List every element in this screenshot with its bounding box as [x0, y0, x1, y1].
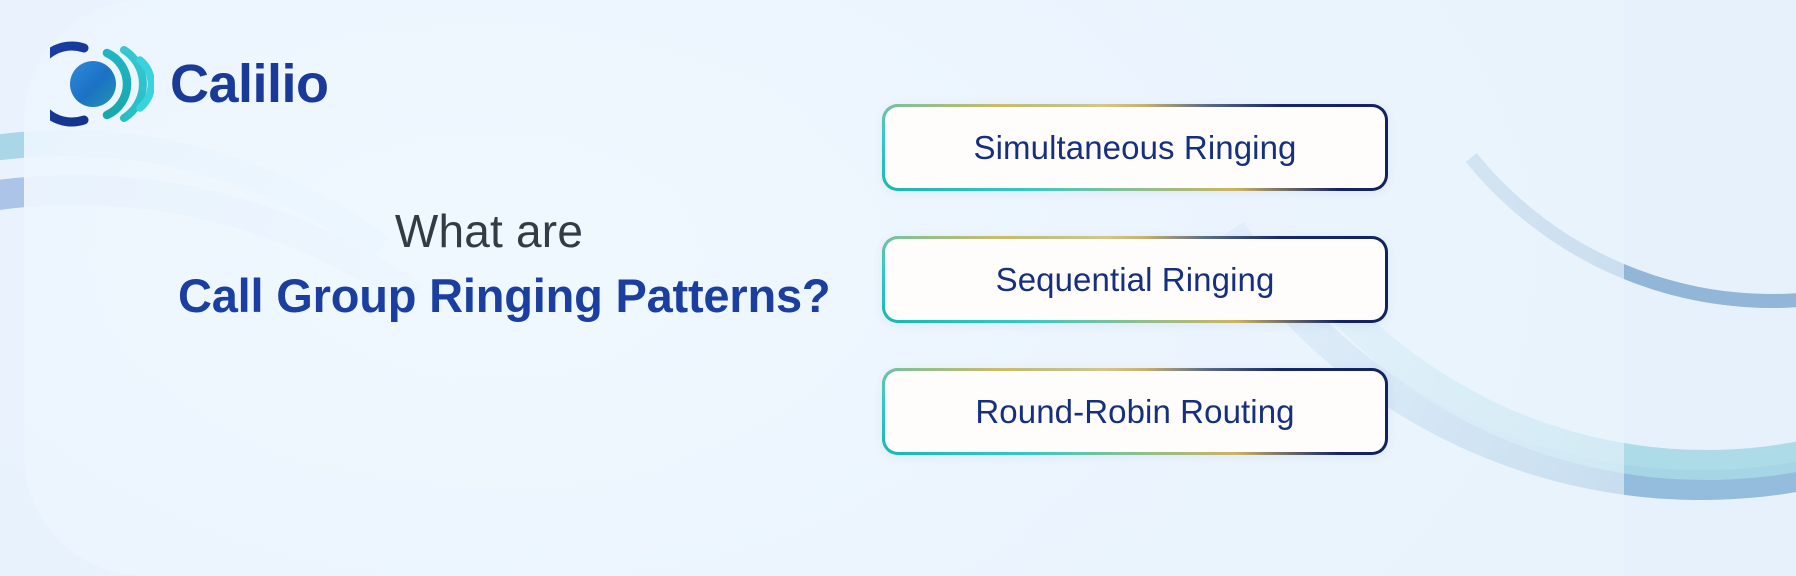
- option-card-inner: Sequential Ringing: [885, 239, 1385, 320]
- option-card-simultaneous-ringing[interactable]: Simultaneous Ringing: [882, 104, 1388, 191]
- brand-name: Calilio: [170, 57, 329, 111]
- option-label: Simultaneous Ringing: [973, 129, 1296, 167]
- headline-line-2: Call Group Ringing Patterns?: [178, 268, 800, 324]
- option-card-round-robin-routing[interactable]: Round-Robin Routing: [882, 368, 1388, 455]
- option-card-sequential-ringing[interactable]: Sequential Ringing: [882, 236, 1388, 323]
- option-card-inner: Simultaneous Ringing: [885, 107, 1385, 188]
- option-card-inner: Round-Robin Routing: [885, 371, 1385, 452]
- decorative-arc-bottom-left-inner: [0, 79, 776, 576]
- calilio-signal-logo-icon: [50, 38, 154, 130]
- headline-line-1: What are: [178, 205, 800, 258]
- headline-block: What are Call Group Ringing Patterns?: [178, 205, 800, 324]
- option-label: Round-Robin Routing: [975, 393, 1294, 431]
- option-label: Sequential Ringing: [996, 261, 1275, 299]
- infographic-banner: Calilio What are Call Group Ringing Patt…: [0, 0, 1796, 576]
- decorative-arc-top-right-accent: [1339, 0, 1796, 347]
- option-list: Simultaneous Ringing Sequential Ringing …: [882, 104, 1388, 455]
- brand-logo: Calilio: [50, 38, 329, 130]
